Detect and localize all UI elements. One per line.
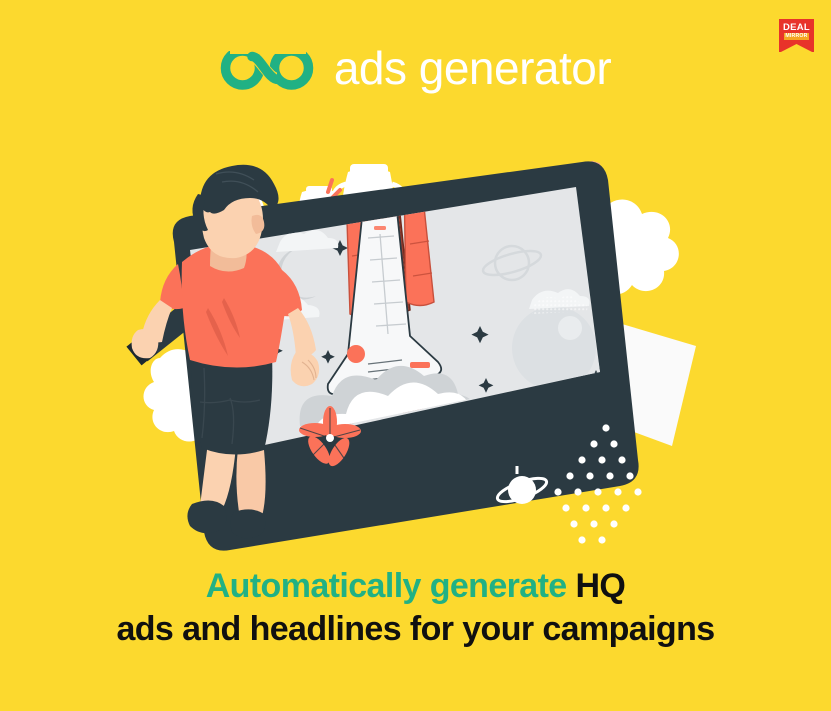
badge-line1: DEAL xyxy=(783,23,810,33)
headline-line-2: ads and headlines for your campaigns xyxy=(0,608,831,651)
headline-line-1: Automatically generate HQ xyxy=(0,565,831,608)
infinity-icon xyxy=(220,40,316,96)
headline-block: Automatically generate HQ ads and headli… xyxy=(0,565,831,651)
illustration-svg: A xyxy=(130,160,710,550)
badge-line2: MIRROR xyxy=(784,33,808,40)
hero-illustration: A xyxy=(130,160,710,550)
poster-canvas: DEAL MIRROR ads generator xyxy=(0,0,831,711)
headline-line1-rest: HQ xyxy=(567,567,626,605)
headline-accent: Automatically generate xyxy=(206,567,567,605)
logo-wordmark: ads generator xyxy=(334,40,611,96)
shuttle-dot xyxy=(347,345,365,363)
brand-logo[interactable]: ads generator xyxy=(0,40,831,96)
